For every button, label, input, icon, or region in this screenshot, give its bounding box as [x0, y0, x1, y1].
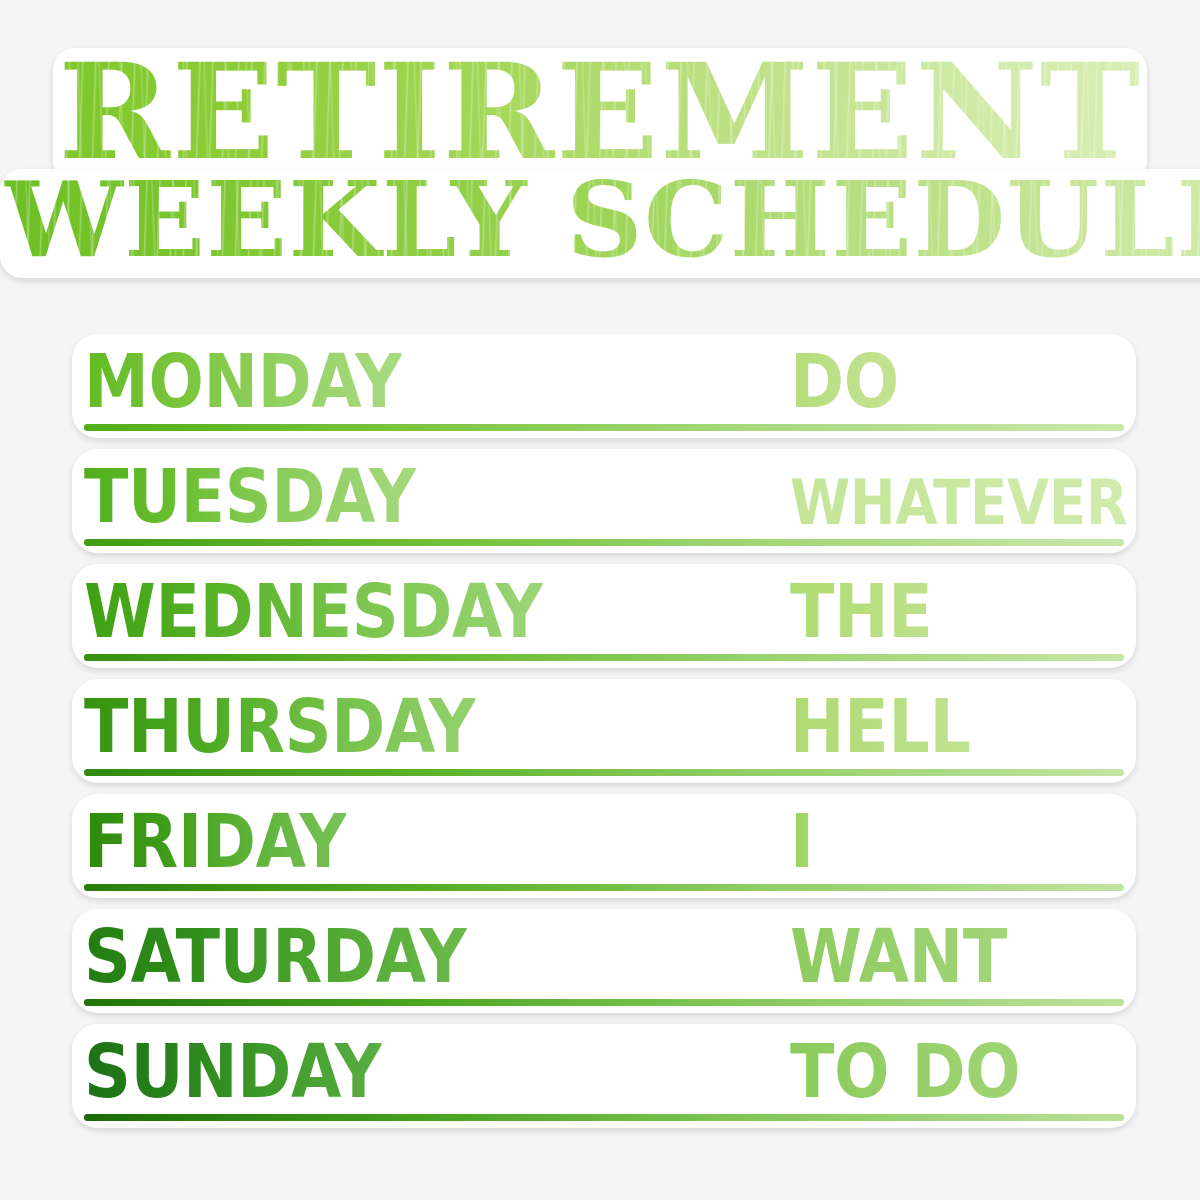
phrase-label-thursday: HELL [790, 690, 971, 764]
schedule-row-tuesday: TUESDAY WHATEVER [0, 445, 1200, 560]
schedule-row-wednesday: WEDNESDAY THE [0, 560, 1200, 675]
day-label-sunday: SUNDAY [84, 1035, 382, 1109]
day-label-friday: FRIDAY [84, 805, 346, 879]
title-text-weekly-schedule: WEEKLY SCHEDULE [4, 171, 1200, 270]
row-content: WEDNESDAY THE [84, 560, 1124, 675]
phrase-label-wednesday: THE [790, 575, 932, 649]
day-label-saturday: SATURDAY [84, 920, 466, 994]
row-divider-rule [84, 884, 1124, 891]
row-content: FRIDAY I [84, 790, 1124, 905]
row-divider-rule [84, 999, 1124, 1006]
row-content: TUESDAY WHATEVER [84, 445, 1124, 560]
phrase-label-saturday: WANT [790, 920, 1007, 994]
schedule-row-friday: FRIDAY I [0, 790, 1200, 905]
phrase-label-tuesday: WHATEVER [790, 472, 1128, 534]
schedule-row-monday: MONDAY DO [0, 330, 1200, 445]
row-divider-rule [84, 1114, 1124, 1121]
schedule-list: MONDAY DO TUESDAY WHATEVER WEDNESDAY THE [0, 330, 1200, 1135]
day-label-wednesday: WEDNESDAY [84, 575, 543, 649]
row-content: MONDAY DO [84, 330, 1124, 445]
sticker-canvas: RETIREMENT WEEKLY SCHEDULE MONDAY DO TUE… [0, 0, 1200, 1200]
schedule-row-saturday: SATURDAY WANT [0, 905, 1200, 1020]
title-block: RETIREMENT WEEKLY SCHEDULE [0, 48, 1200, 282]
row-divider-rule [84, 654, 1124, 661]
schedule-row-sunday: SUNDAY TO DO [0, 1020, 1200, 1135]
row-divider-rule [84, 769, 1124, 776]
row-divider-rule [84, 539, 1124, 546]
title-line-weekly-schedule: WEEKLY SCHEDULE [0, 169, 1200, 282]
schedule-row-thursday: THURSDAY HELL [0, 675, 1200, 790]
phrase-label-friday: I [790, 805, 814, 879]
phrase-label-monday: DO [790, 345, 899, 419]
row-content: SUNDAY TO DO [84, 1020, 1124, 1135]
day-label-thursday: THURSDAY [84, 690, 476, 764]
day-label-monday: MONDAY [84, 345, 402, 419]
row-divider-rule [84, 424, 1124, 431]
phrase-label-sunday: TO DO [790, 1035, 1020, 1109]
title-sticker-band-2: WEEKLY SCHEDULE [0, 169, 1200, 278]
title-text-retirement: RETIREMENT [58, 50, 1141, 175]
row-content: SATURDAY WANT [84, 905, 1124, 1020]
row-content: THURSDAY HELL [84, 675, 1124, 790]
day-label-tuesday: TUESDAY [84, 460, 416, 534]
